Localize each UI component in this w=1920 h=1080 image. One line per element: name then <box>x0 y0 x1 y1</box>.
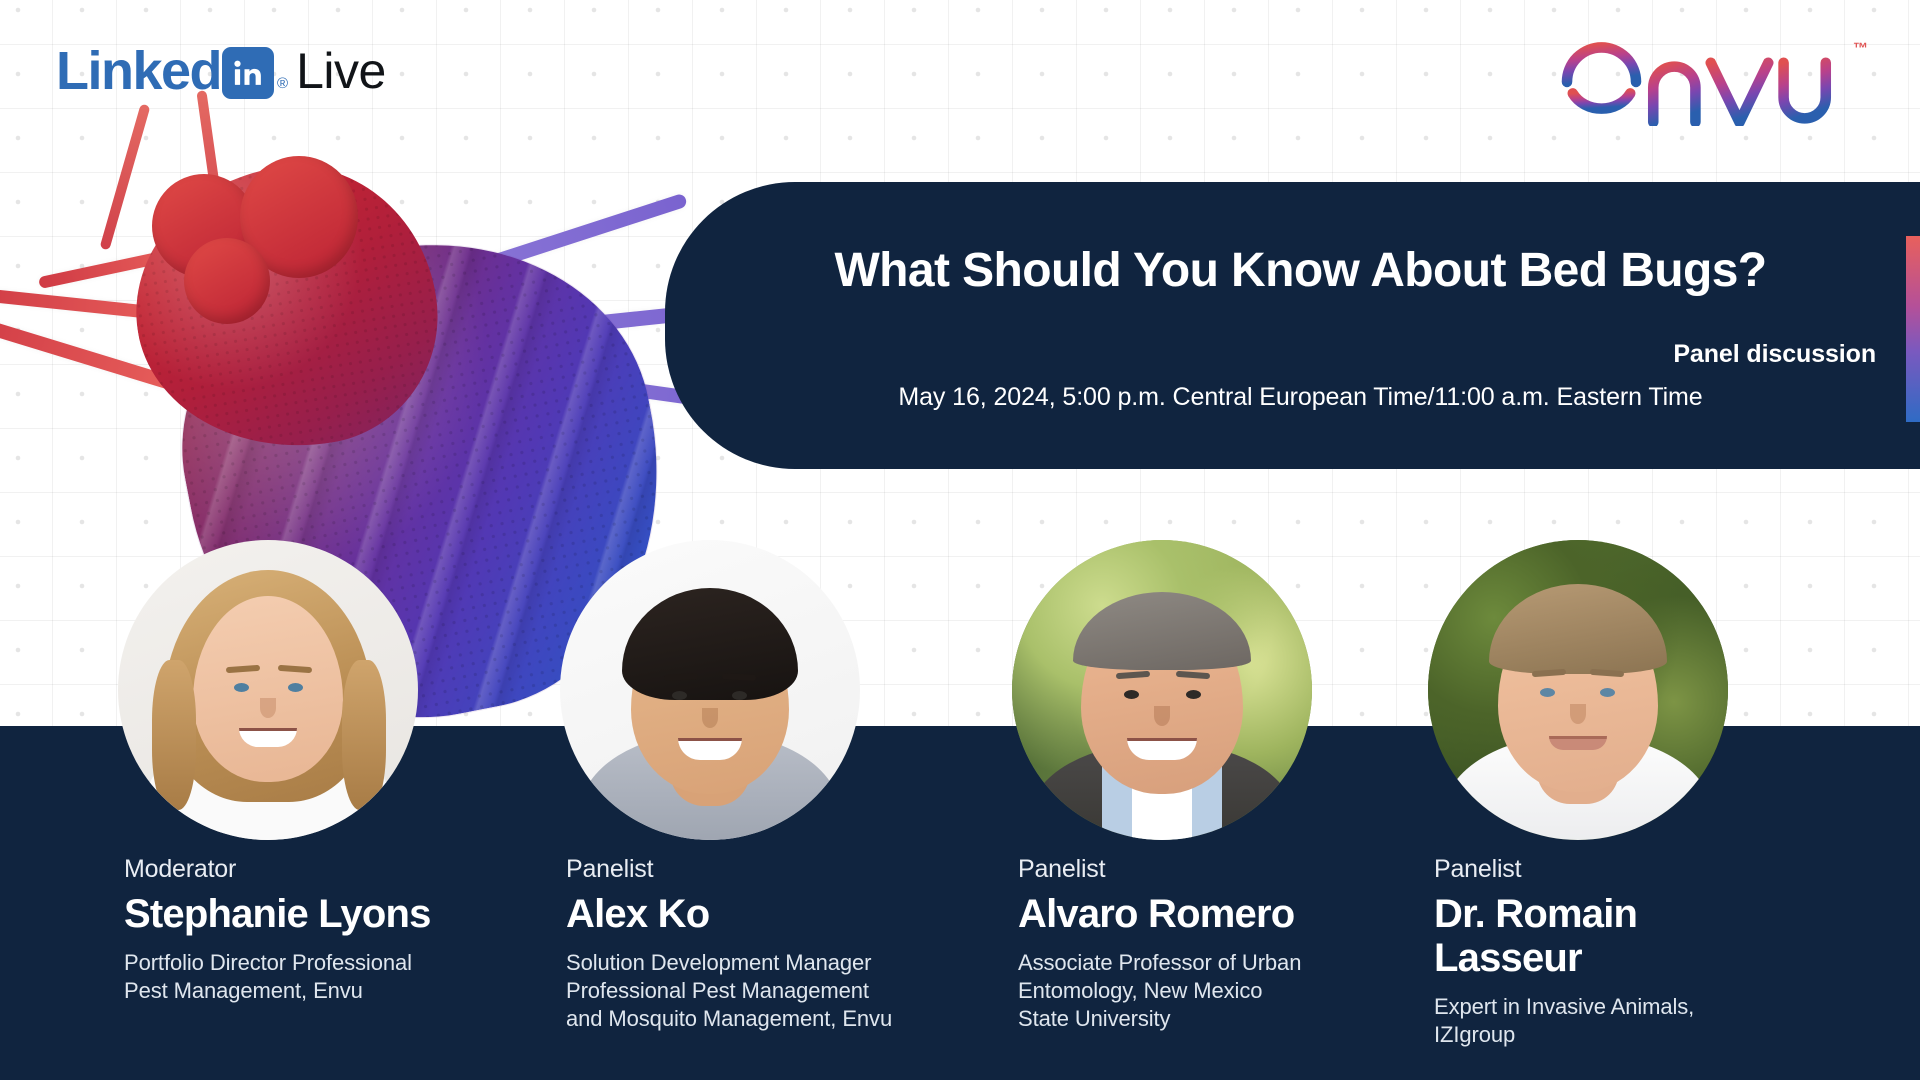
speaker-title: Solution Development Manager Professiona… <box>566 949 966 1033</box>
speaker-role: Panelist <box>1434 855 1794 884</box>
speaker-name: Stephanie Lyons <box>124 892 504 936</box>
speaker-role: Moderator <box>124 855 504 884</box>
speaker-title: Portfolio Director Professional Pest Man… <box>124 949 504 1005</box>
speakers-list: Moderator Stephanie Lyons Portfolio Dire… <box>0 0 1920 1080</box>
speaker-meta-1: Panelist Alex Ko Solution Development Ma… <box>566 855 966 1033</box>
speaker-meta-2: Panelist Alvaro Romero Associate Profess… <box>1018 855 1378 1033</box>
speaker-title: Expert in Invasive Animals, IZIgroup <box>1434 993 1794 1049</box>
avatar-alvaro-romero <box>1012 540 1312 840</box>
avatar-alex-ko <box>560 540 860 840</box>
slide-canvas: Linked ® Live <box>0 0 1920 1080</box>
speaker-title: Associate Professor of Urban Entomology,… <box>1018 949 1378 1033</box>
avatar-romain-lasseur <box>1428 540 1728 840</box>
speaker-meta-0: Moderator Stephanie Lyons Portfolio Dire… <box>124 855 504 1005</box>
avatar-stephanie-lyons <box>118 540 418 840</box>
speaker-name: Alex Ko <box>566 892 966 936</box>
speaker-name: Alvaro Romero <box>1018 892 1378 936</box>
speaker-name: Dr. Romain Lasseur <box>1434 892 1794 980</box>
speaker-role: Panelist <box>566 855 966 884</box>
speaker-meta-3: Panelist Dr. Romain Lasseur Expert in In… <box>1434 855 1794 1049</box>
speaker-role: Panelist <box>1018 855 1378 884</box>
